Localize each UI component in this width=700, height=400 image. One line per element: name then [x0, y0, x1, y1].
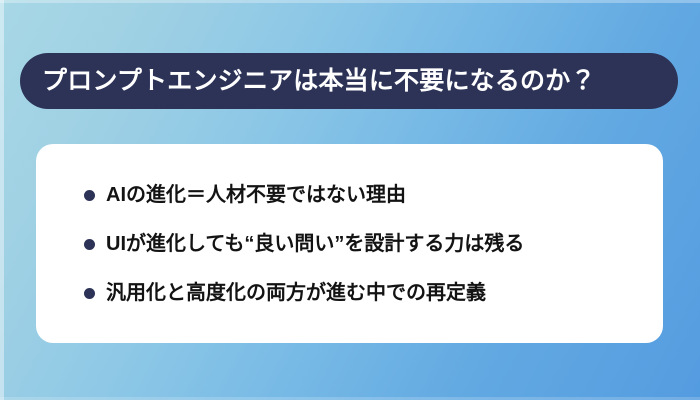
bullet-dot-icon — [84, 190, 95, 201]
bullet-item-label: 汎用化と高度化の両方が進む中での再定義 — [106, 281, 486, 305]
top-edge-strip — [0, 0, 700, 3]
list-item: UIが進化しても“良い問い”を設計する力は残る — [84, 232, 633, 256]
bullet-dot-icon — [84, 288, 95, 299]
left-edge-strip — [0, 0, 4, 400]
bullet-item-label: UIが進化しても“良い問い”を設計する力は残る — [106, 232, 524, 256]
title-banner: プロンプトエンジニアは本当に不要になるのか？ — [20, 53, 678, 109]
bullet-dot-icon — [84, 239, 95, 250]
list-item: 汎用化と高度化の両方が進む中での再定義 — [84, 281, 633, 305]
page-title: プロンプトエンジニアは本当に不要になるのか？ — [42, 69, 596, 94]
bullet-card: AIの進化＝人材不要ではない理由 UIが進化しても“良い問い”を設計する力は残る… — [36, 144, 663, 343]
slide-canvas: プロンプトエンジニアは本当に不要になるのか？ AIの進化＝人材不要ではない理由 … — [0, 0, 700, 400]
bullet-item-label: AIの進化＝人材不要ではない理由 — [106, 183, 406, 207]
list-item: AIの進化＝人材不要ではない理由 — [84, 183, 633, 207]
